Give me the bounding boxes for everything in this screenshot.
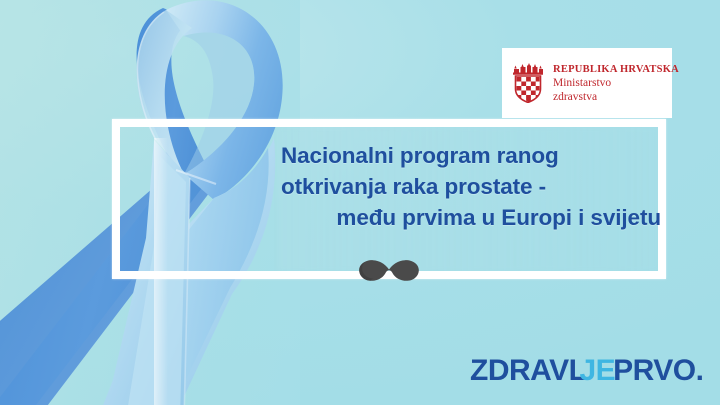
- ministry-line-1: REPUBLIKA HRVATSKA: [553, 63, 679, 76]
- ministry-logo-text: REPUBLIKA HRVATSKA Ministarstvo zdravstv…: [553, 63, 679, 104]
- wordmark-part-2: PRVO: [613, 354, 695, 388]
- wordmark-accent: JE: [579, 354, 615, 388]
- headline-line-3: među prvima u Europi i svijetu: [281, 202, 661, 233]
- poster-canvas: Nacionalni program ranog otkrivanja raka…: [0, 0, 720, 405]
- ministry-logo: REPUBLIKA HRVATSKA Ministarstvo zdravstv…: [502, 48, 672, 118]
- wordmark-part-1: ZDRAVL: [470, 354, 586, 388]
- wordmark-dot: .: [696, 354, 704, 388]
- ministry-line-2: Ministarstvo: [553, 76, 679, 90]
- headline-line-1: Nacionalni program ranog: [281, 140, 661, 171]
- headline-line-2: otkrivanja raka prostate -: [281, 171, 661, 202]
- mustache-icon: [358, 258, 420, 286]
- campaign-wordmark: ZDRAVL JE PRVO .: [470, 354, 703, 388]
- croatian-coat-of-arms-icon: [512, 63, 544, 103]
- ministry-line-3: zdravstva: [553, 90, 679, 104]
- page-title: Nacionalni program ranog otkrivanja raka…: [281, 140, 661, 233]
